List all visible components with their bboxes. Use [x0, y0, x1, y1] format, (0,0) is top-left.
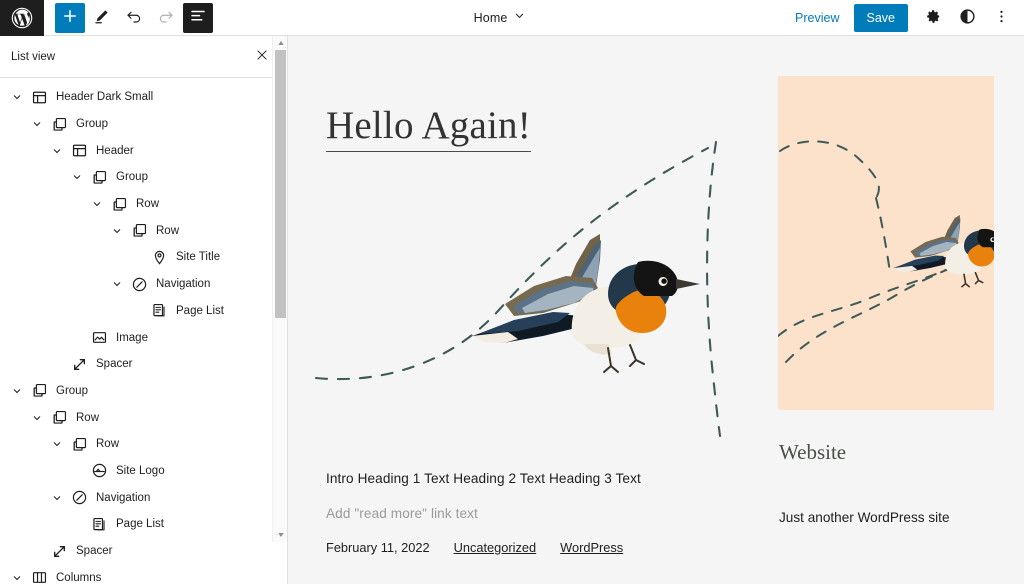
document-title-dropdown[interactable]: Home	[213, 9, 787, 27]
block-tree-item-label: Navigation	[96, 492, 150, 504]
sidebar-scrollbar[interactable]	[272, 36, 287, 542]
group-icon	[48, 113, 70, 135]
chevron-down-icon[interactable]	[6, 567, 28, 584]
sidebar-scrollbar-thumb[interactable]	[275, 50, 286, 318]
block-tree-item[interactable]: Row	[0, 191, 287, 218]
columns-icon	[28, 567, 50, 584]
block-tree-item-label: Navigation	[156, 278, 210, 290]
block-tree-item-label: Row	[136, 198, 159, 210]
undo-arrow-icon	[125, 7, 143, 28]
settings-button[interactable]	[918, 3, 948, 33]
block-tree-item-label: Page List	[116, 518, 164, 530]
pencil-icon	[93, 7, 111, 28]
block-tree-item[interactable]: Columns	[0, 564, 287, 584]
read-more-placeholder[interactable]: Add "read more" link text	[326, 506, 478, 521]
contrast-half-circle-icon	[959, 8, 976, 28]
top-bar-actions: Preview Save	[787, 3, 1024, 33]
page-list-icon	[88, 513, 110, 535]
editor-canvas[interactable]: Hello Again!	[288, 36, 1024, 584]
group-icon	[108, 193, 130, 215]
hero-bird-image[interactable]	[308, 136, 738, 446]
list-view-icon	[189, 7, 207, 28]
close-list-view-button[interactable]	[251, 46, 273, 68]
block-tree[interactable]: Header Dark SmallGroupHeaderGroupRowRowS…	[0, 78, 287, 584]
redo-arrow-icon	[157, 7, 175, 28]
bird-illustration	[472, 234, 700, 372]
block-tree-item-label: Site Logo	[116, 465, 165, 477]
block-tree-item[interactable]: Row	[0, 217, 287, 244]
block-tree-item-label: Row	[96, 438, 119, 450]
block-tree-item-label: Group	[116, 171, 148, 183]
list-view-title: List view	[11, 51, 251, 63]
navigation-circle-icon	[128, 273, 150, 295]
scroll-arrow-down-icon[interactable]	[273, 528, 288, 542]
styles-button[interactable]	[952, 3, 982, 33]
block-tree-item[interactable]: Page List	[0, 298, 287, 325]
list-view-header: List view	[0, 36, 287, 78]
gear-icon	[925, 8, 942, 28]
group-icon	[68, 433, 90, 455]
save-button[interactable]: Save	[854, 4, 909, 32]
bird-illustration-card	[893, 215, 994, 287]
block-tree-item[interactable]: Site Title	[0, 244, 287, 271]
list-view-sidebar: List view Header Dark SmallGroupHeaderGr…	[0, 36, 288, 584]
spacer-arrows-icon	[68, 353, 90, 375]
chevron-down-icon	[513, 9, 526, 27]
document-title: Home	[474, 11, 508, 25]
chevron-down-icon[interactable]	[106, 273, 128, 295]
block-tree-item[interactable]: Page List	[0, 511, 287, 538]
block-tree-item[interactable]: Group	[0, 378, 287, 405]
page-list-icon	[148, 300, 170, 322]
chevron-down-icon[interactable]	[26, 113, 48, 135]
post-category-link[interactable]: Uncategorized	[454, 540, 537, 555]
block-tree-item-label: Image	[116, 332, 148, 344]
wordpress-logo-icon	[11, 7, 33, 29]
block-tree-item-label: Spacer	[96, 358, 132, 370]
block-tree-item[interactable]: Header	[0, 137, 287, 164]
block-tree-item[interactable]: Group	[0, 164, 287, 191]
chevron-down-icon[interactable]	[46, 433, 68, 455]
block-tree-item-label: Row	[76, 412, 99, 424]
group-icon	[28, 380, 50, 402]
intro-headings-text[interactable]: Intro Heading 1 Text Heading 2 Text Head…	[326, 471, 641, 486]
edit-tool-button[interactable]	[87, 3, 117, 33]
chevron-down-icon[interactable]	[66, 166, 88, 188]
chevron-down-icon[interactable]	[46, 140, 68, 162]
wordpress-logo-button[interactable]	[0, 0, 44, 36]
block-tree-item[interactable]: Header Dark Small	[0, 84, 287, 111]
plus-icon	[61, 7, 79, 28]
navigation-circle-icon	[68, 487, 90, 509]
site-title-heading[interactable]: Website	[779, 440, 846, 465]
block-tree-item-label: Header Dark Small	[56, 91, 153, 103]
block-tree-item[interactable]: Image	[0, 324, 287, 351]
spacer-arrows-icon	[48, 540, 70, 562]
block-tree-item[interactable]: Row	[0, 431, 287, 458]
block-tree-item[interactable]: Navigation	[0, 484, 287, 511]
block-tree-item-label: Columns	[56, 572, 101, 584]
list-view-button[interactable]	[183, 3, 213, 33]
sidebar-column: Website Just another WordPress site Cate…	[778, 36, 1024, 584]
chevron-down-icon[interactable]	[86, 193, 108, 215]
block-tree-item[interactable]: Navigation	[0, 271, 287, 298]
chevron-down-icon[interactable]	[26, 407, 48, 429]
three-dots-vertical-icon	[993, 8, 1010, 28]
chevron-down-icon[interactable]	[6, 86, 28, 108]
block-tree-item[interactable]: Group	[0, 111, 287, 138]
block-tree-item-label: Spacer	[76, 545, 112, 557]
block-tree-item-label: Group	[76, 118, 108, 130]
map-pin-icon	[148, 246, 170, 268]
scroll-arrow-up-icon[interactable]	[273, 36, 288, 50]
group-icon	[128, 220, 150, 242]
more-options-button[interactable]	[986, 3, 1016, 33]
block-tree-item[interactable]: Spacer	[0, 351, 287, 378]
chevron-down-icon[interactable]	[46, 487, 68, 509]
close-x-icon	[255, 48, 269, 65]
block-tree-item[interactable]: Row	[0, 404, 287, 431]
block-tree-item-label: Header	[96, 145, 134, 157]
featured-image-card[interactable]	[778, 76, 994, 410]
post-author-link[interactable]: WordPress	[560, 540, 623, 555]
block-tree-item-label: Group	[56, 385, 88, 397]
template-part-icon	[68, 140, 90, 162]
site-tagline[interactable]: Just another WordPress site	[779, 510, 950, 525]
chevron-down-icon[interactable]	[6, 380, 28, 402]
block-tree-item-label: Row	[156, 225, 179, 237]
editor-top-bar: Home Preview Save	[0, 0, 1024, 36]
preview-button[interactable]: Preview	[787, 5, 847, 31]
redo-button[interactable]	[151, 3, 181, 33]
template-part-icon	[28, 86, 50, 108]
group-icon	[88, 166, 110, 188]
top-bar-tools	[44, 3, 213, 33]
post-meta-row: February 11, 2022 Uncategorized WordPres…	[326, 540, 623, 555]
block-tree-item-label: Page List	[176, 305, 224, 317]
image-icon	[88, 327, 110, 349]
site-logo-icon	[88, 460, 110, 482]
chevron-down-icon[interactable]	[106, 220, 128, 242]
add-block-button[interactable]	[55, 3, 85, 33]
post-date: February 11, 2022	[326, 540, 430, 555]
block-tree-item-label: Site Title	[176, 251, 220, 263]
block-tree-item[interactable]: Site Logo	[0, 458, 287, 485]
group-icon	[48, 407, 70, 429]
undo-button[interactable]	[119, 3, 149, 33]
block-tree-item[interactable]: Spacer	[0, 538, 287, 565]
